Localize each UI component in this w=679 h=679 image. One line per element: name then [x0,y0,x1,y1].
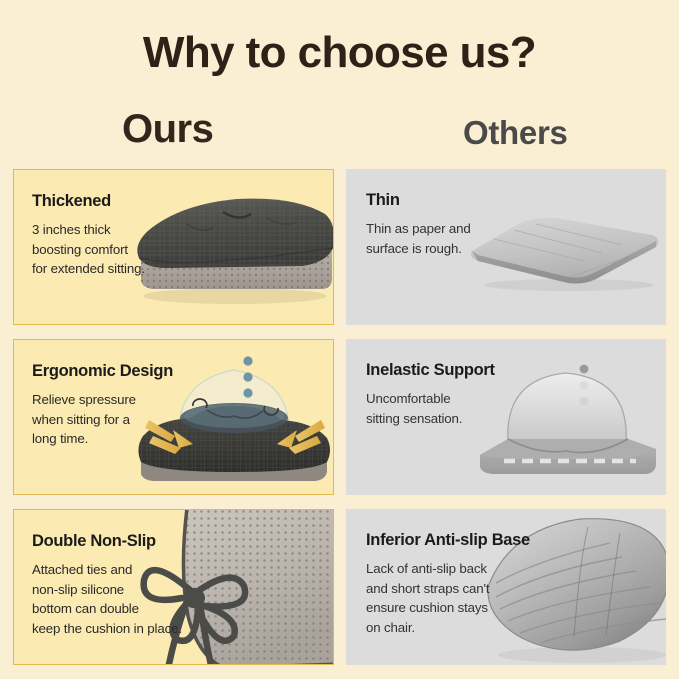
card-heading: Double Non-Slip [32,532,232,550]
card-heading: Thickened [32,192,232,210]
comparison-row: Double Non-Slip Attached ties and non-sl… [13,509,666,665]
card-text-block: Inelastic Support Uncomfortable sitting … [366,361,566,428]
card-body: 3 inches thick boosting comfort for exte… [32,220,232,279]
comparison-row: Thickened 3 inches thick boosting comfor… [13,169,666,325]
pressure-dot [243,356,252,365]
card-heading: Thin [366,191,566,209]
ours-card-double-non-slip: Double Non-Slip Attached ties and non-sl… [13,509,334,665]
ours-card-ergonomic-design: Ergonomic Design Relieve spressure when … [13,339,334,495]
card-text-block: Thickened 3 inches thick boosting comfor… [32,192,232,279]
comparison-grid: Thickened 3 inches thick boosting comfor… [13,169,666,665]
column-label-others: Others [463,114,568,152]
others-card-inelastic-support: Inelastic Support Uncomfortable sitting … [346,339,666,495]
card-heading: Inferior Anti-slip Base [366,531,566,549]
card-body: Relieve spressure when sitting for a lon… [32,390,232,449]
pressure-dot [243,388,252,397]
card-body: Thin as paper and surface is rough. [366,219,566,258]
card-heading: Inelastic Support [366,361,566,379]
others-card-inferior-anti-slip-base: Inferior Anti-slip Base Lack of anti-sli… [346,509,666,665]
card-body: Lack of anti-slip back and short straps … [366,559,566,638]
card-text-block: Thin Thin as paper and surface is rough. [366,191,566,258]
pressure-dot [580,397,589,406]
pressure-dot [580,381,589,390]
page-title: Why to choose us? [0,28,679,78]
card-text-block: Inferior Anti-slip Base Lack of anti-sli… [366,531,566,638]
card-body: Uncomfortable sitting sensation. [366,389,566,428]
comparison-row: Ergonomic Design Relieve spressure when … [13,339,666,495]
card-body: Attached ties and non-slip silicone bott… [32,560,232,639]
card-text-block: Ergonomic Design Relieve spressure when … [32,362,232,449]
pressure-dot [243,372,252,381]
ours-card-thickened: Thickened 3 inches thick boosting comfor… [13,169,334,325]
card-heading: Ergonomic Design [32,362,232,380]
infographic-page: Why to choose us? Ours Others Thickened … [0,0,679,679]
pressure-dot [580,365,589,374]
card-text-block: Double Non-Slip Attached ties and non-sl… [32,532,232,639]
column-label-ours: Ours [122,107,213,152]
others-card-thin: Thin Thin as paper and surface is rough. [346,169,666,325]
